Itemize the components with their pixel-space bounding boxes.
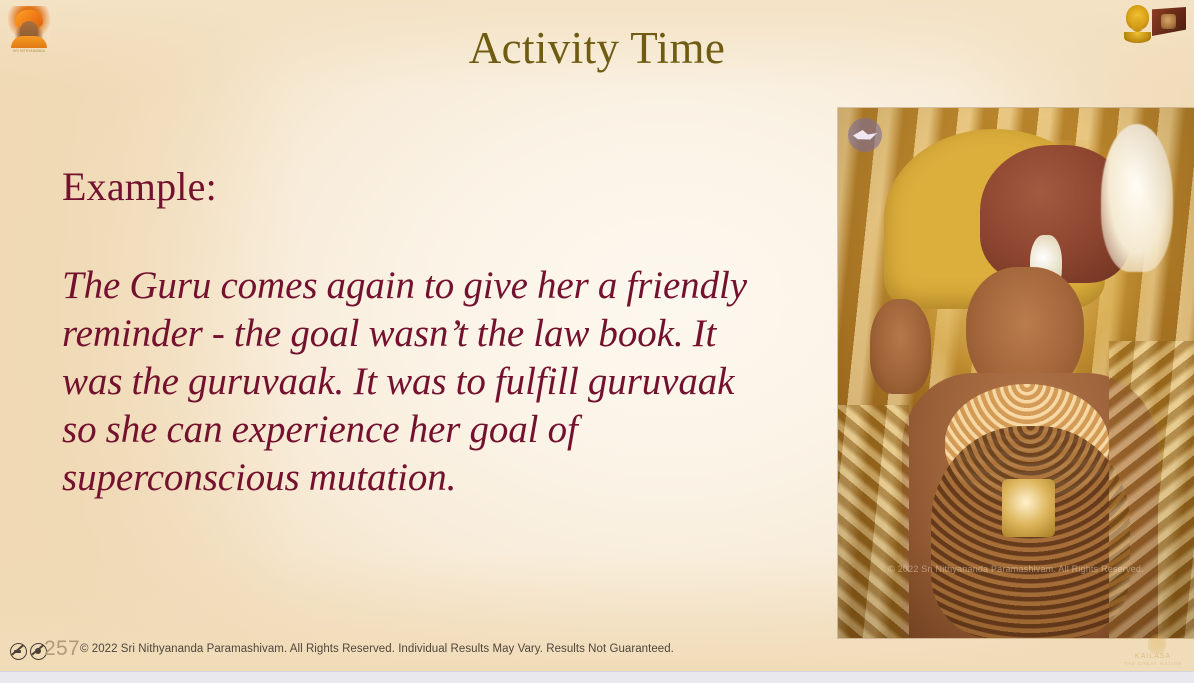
bird-watermark-icon (848, 118, 882, 152)
bird-wing-shape (853, 130, 877, 140)
page-title: Activity Time (0, 22, 1194, 74)
no-smoking-icon (10, 643, 27, 660)
example-label: Example: (62, 163, 217, 210)
kailasa-logo-mark (1148, 634, 1166, 654)
no-camera-glyph (35, 648, 41, 654)
kailasa-wordmark: KAILASA (1118, 653, 1188, 660)
kailasa-subwordmark: THE GREAT NATION (1118, 661, 1188, 666)
no-smoking-glyph (14, 650, 21, 653)
kailasa-footer-logo: KAILASA THE GREAT NATION (1118, 634, 1188, 670)
viewer-bottom-strip (0, 671, 1194, 683)
emblem-top-right (1112, 3, 1186, 45)
photo-vignette (838, 108, 1194, 638)
page-number: 257 (44, 637, 80, 661)
quote-text: The Guru comes again to give her a frien… (62, 262, 752, 502)
copyright-notice: © 2022 Sri Nithyananda Paramashivam. All… (80, 643, 674, 655)
kailasa-flag-icon (1152, 7, 1186, 36)
flag-figure-shape (1161, 14, 1176, 29)
footer-restriction-icons (10, 643, 47, 660)
slide-canvas: SRI NITHYANANDA Activity Time Example: T… (0, 0, 1194, 683)
slide-footer: 257 © 2022 Sri Nithyananda Paramashivam.… (0, 632, 1194, 672)
deity-base-shape (1124, 32, 1151, 43)
guru-photograph: © 2022 Sri Nithyananda Paramashivam. All… (838, 108, 1194, 638)
deity-statue-icon (1124, 5, 1151, 43)
deity-body-shape (1132, 16, 1143, 32)
